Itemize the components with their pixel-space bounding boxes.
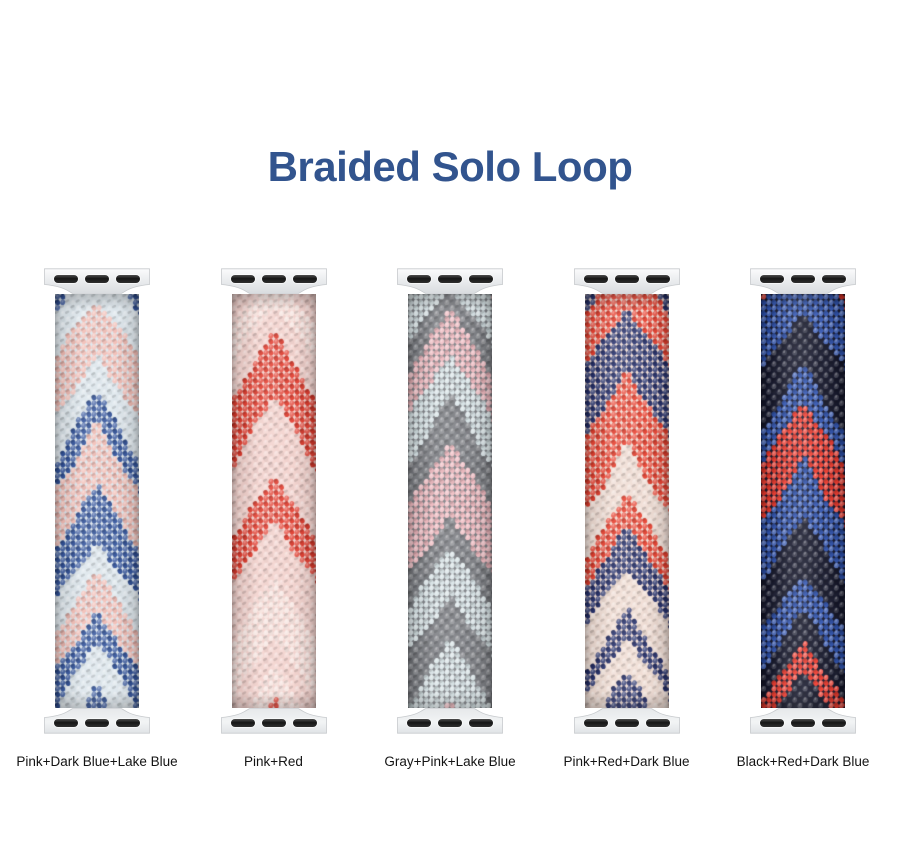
- connector-slot: [760, 275, 784, 283]
- connector-slot: [407, 719, 431, 727]
- connector-slot: [615, 275, 639, 283]
- bottom-connector-slots: [220, 708, 328, 734]
- woven-strap: [55, 294, 139, 708]
- connector-slot: [469, 719, 493, 727]
- weave-texture-gray-pink-lake-blue: [408, 294, 492, 708]
- bottom-connector: [749, 708, 857, 734]
- connector-slot: [293, 719, 317, 727]
- top-connector-slots: [396, 268, 504, 294]
- woven-strap: [761, 294, 845, 708]
- connector-slot: [469, 275, 493, 283]
- woven-strap: [232, 294, 316, 708]
- connector-slot: [438, 719, 462, 727]
- connector-slot: [584, 719, 608, 727]
- woven-strap: [408, 294, 492, 708]
- product-caption-black-red-dark-blue: Black+Red+Dark Blue: [737, 754, 870, 770]
- connector-slot: [231, 719, 255, 727]
- product-item-pink-red-dark-blue[interactable]: Pink+Red+Dark Blue: [544, 268, 710, 778]
- product-item-gray-pink-lake-blue[interactable]: Gray+Pink+Lake Blue: [367, 268, 533, 778]
- weave-texture-black-red-dark-blue: [761, 294, 845, 708]
- connector-slot: [791, 275, 815, 283]
- top-connector-slots: [749, 268, 857, 294]
- weave-texture-pink-red: [232, 294, 316, 708]
- top-connector-slots: [43, 268, 151, 294]
- connector-slot: [116, 719, 140, 727]
- connector-slot: [407, 275, 431, 283]
- watch-band-pink-red[interactable]: [219, 268, 329, 734]
- bottom-connector: [220, 708, 328, 734]
- connector-slot: [116, 275, 140, 283]
- top-connector: [43, 268, 151, 294]
- top-connector: [749, 268, 857, 294]
- watch-band-gray-pink-lake-blue[interactable]: [395, 268, 505, 734]
- bottom-connector: [396, 708, 504, 734]
- product-caption-pink-red-dark-blue: Pink+Red+Dark Blue: [563, 754, 689, 770]
- bottom-connector: [573, 708, 681, 734]
- page-title: Braided Solo Loop: [0, 146, 900, 188]
- top-connector: [573, 268, 681, 294]
- product-item-pink-red[interactable]: Pink+Red: [191, 268, 357, 778]
- product-caption-pink-dark-blue-lake-blue: Pink+Dark Blue+Lake Blue: [16, 754, 177, 770]
- connector-slot: [791, 719, 815, 727]
- product-caption-gray-pink-lake-blue: Gray+Pink+Lake Blue: [384, 754, 515, 770]
- connector-slot: [584, 275, 608, 283]
- connector-slot: [760, 719, 784, 727]
- product-row: Pink+Dark Blue+Lake Blue: [0, 268, 900, 778]
- watch-band-black-red-dark-blue[interactable]: [748, 268, 858, 734]
- connector-slot: [646, 275, 670, 283]
- page-title-wrap: Braided Solo Loop: [0, 146, 900, 188]
- bottom-connector-slots: [749, 708, 857, 734]
- product-item-black-red-dark-blue[interactable]: Black+Red+Dark Blue: [720, 268, 886, 778]
- connector-slot: [262, 719, 286, 727]
- connector-slot: [85, 275, 109, 283]
- bottom-connector-slots: [573, 708, 681, 734]
- bottom-connector-slots: [396, 708, 504, 734]
- bottom-connector: [43, 708, 151, 734]
- top-connector: [220, 268, 328, 294]
- connector-slot: [231, 275, 255, 283]
- connector-slot: [822, 719, 846, 727]
- top-connector-slots: [220, 268, 328, 294]
- weave-texture-pink-dark-blue-lake-blue: [55, 294, 139, 708]
- connector-slot: [262, 275, 286, 283]
- product-item-pink-dark-blue-lake-blue[interactable]: Pink+Dark Blue+Lake Blue: [14, 268, 180, 778]
- connector-slot: [85, 719, 109, 727]
- watch-band-pink-dark-blue-lake-blue[interactable]: [42, 268, 152, 734]
- connector-slot: [646, 719, 670, 727]
- bottom-connector-slots: [43, 708, 151, 734]
- connector-slot: [293, 275, 317, 283]
- weave-texture-pink-red-dark-blue: [585, 294, 669, 708]
- top-connector-slots: [573, 268, 681, 294]
- top-connector: [396, 268, 504, 294]
- watch-band-pink-red-dark-blue[interactable]: [572, 268, 682, 734]
- connector-slot: [438, 275, 462, 283]
- connector-slot: [54, 719, 78, 727]
- product-caption-pink-red: Pink+Red: [244, 754, 303, 770]
- product-showcase-page: Braided Solo Loop: [0, 0, 900, 862]
- connector-slot: [54, 275, 78, 283]
- woven-strap: [585, 294, 669, 708]
- connector-slot: [822, 275, 846, 283]
- connector-slot: [615, 719, 639, 727]
